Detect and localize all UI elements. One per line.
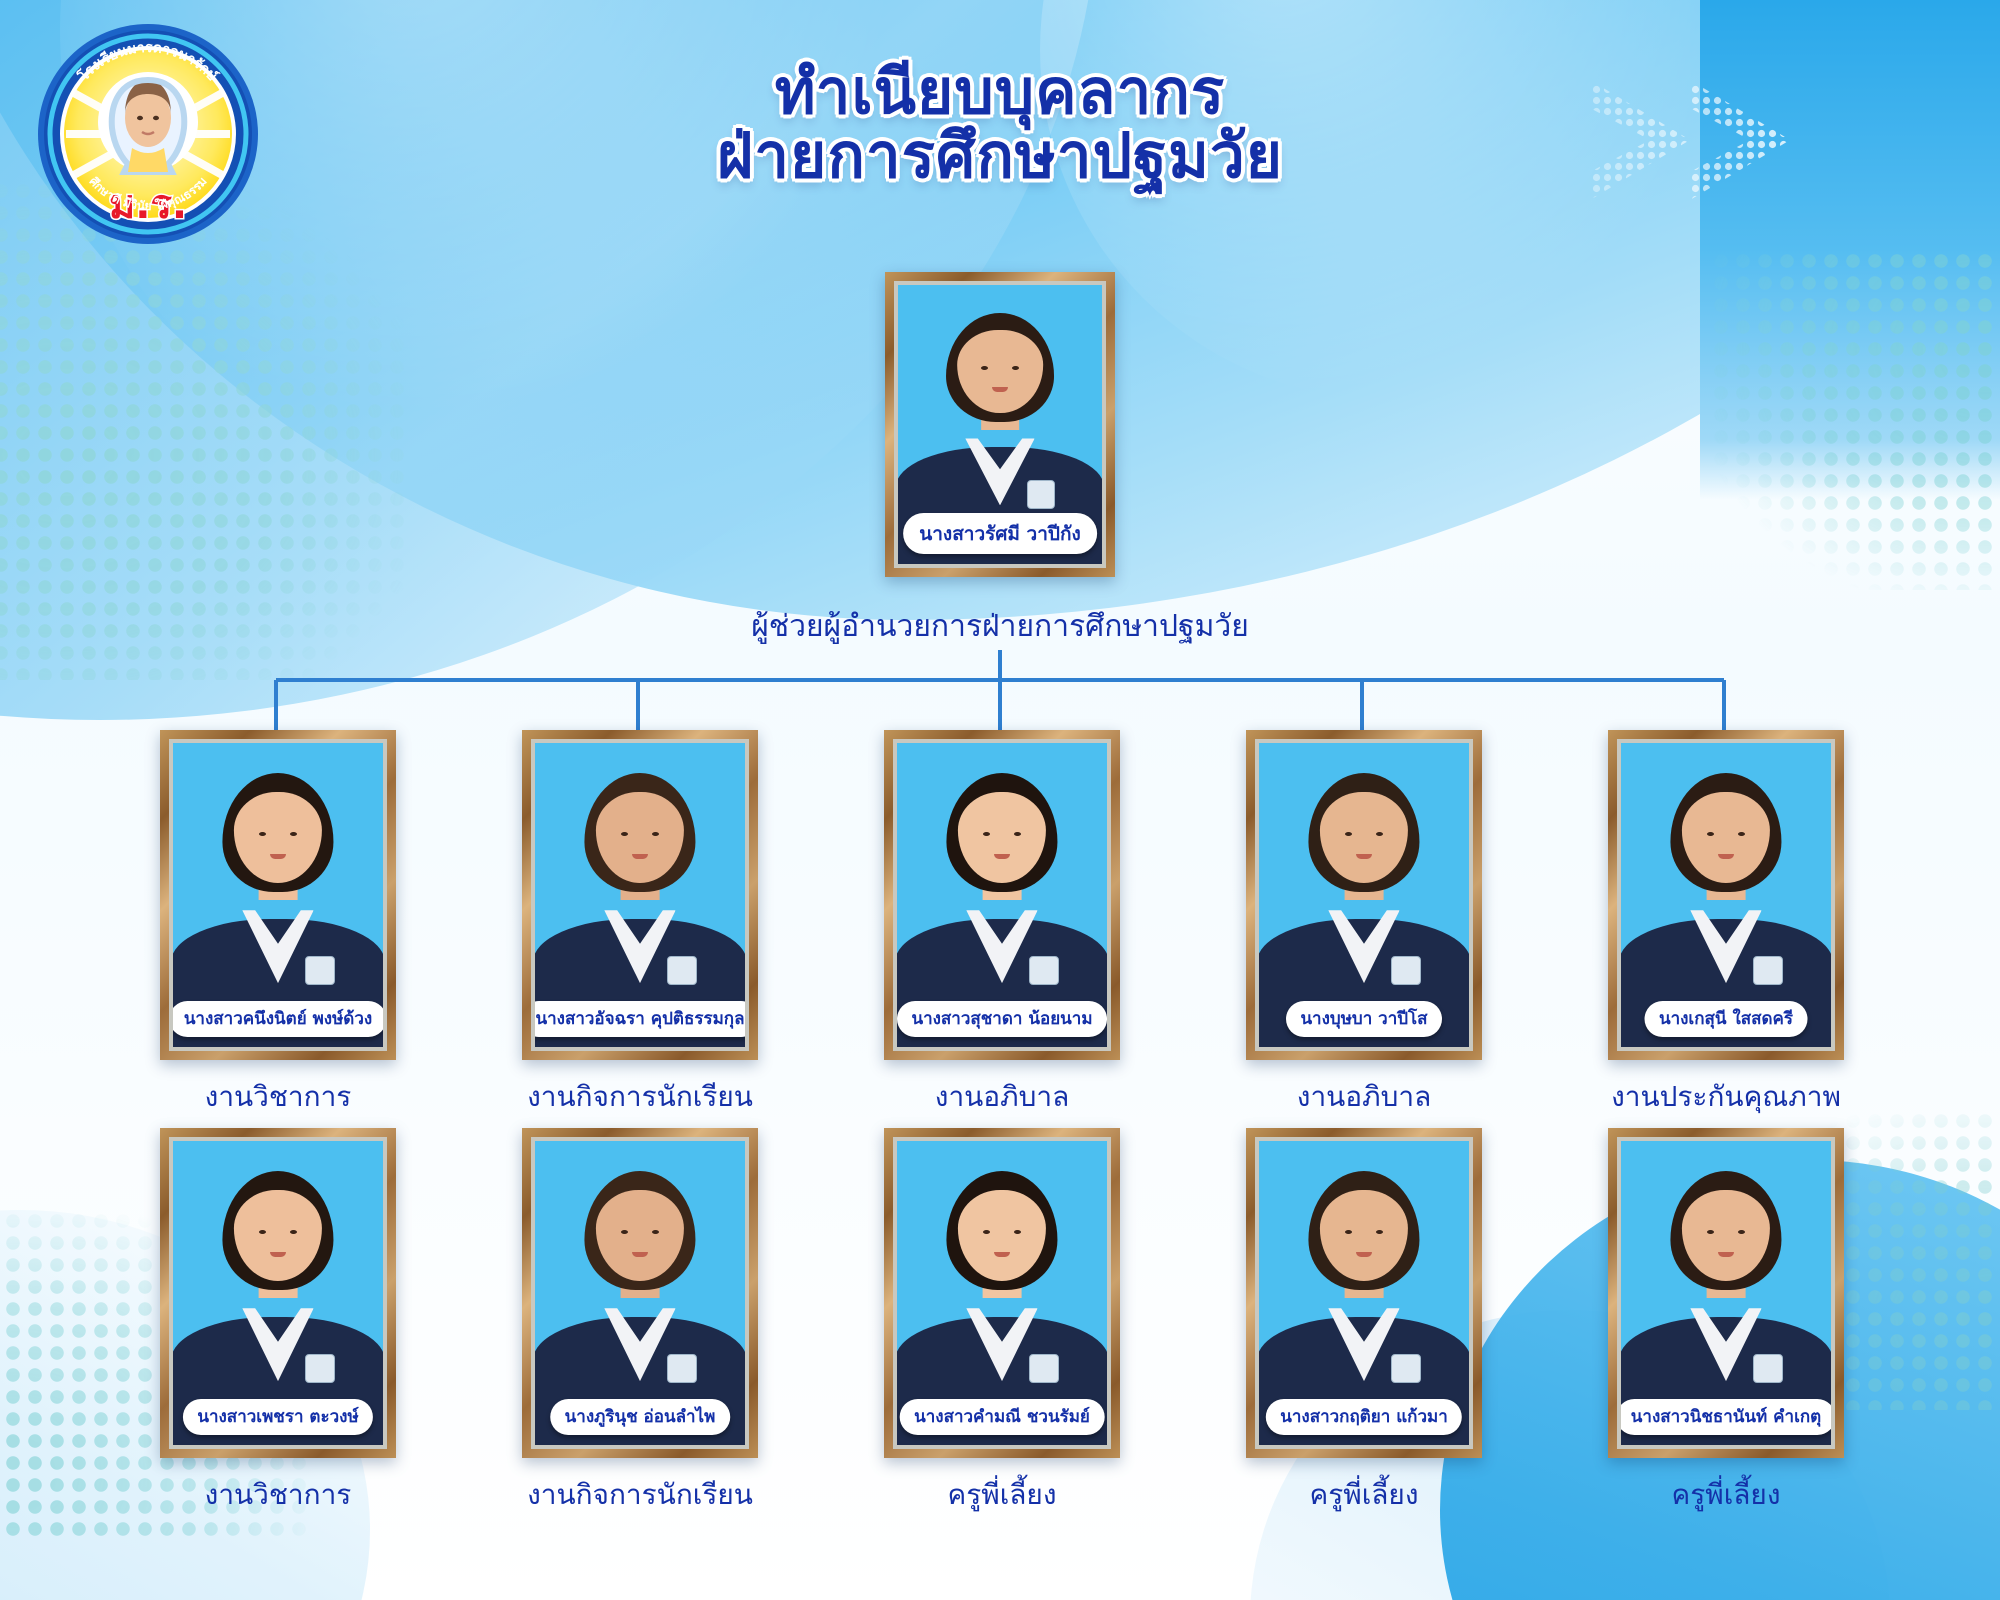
school-logo: ม.ร. โรงเรียนมารดาวนารักษ์ ศึกษาดี มีวิน… xyxy=(36,22,260,246)
photo-frame: นางสาวกฤติยา แก้วมา xyxy=(1246,1128,1482,1458)
org-chart-node[interactable]: นางสาวนิชธานันท์ คำเกตุ xyxy=(1608,1128,1844,1458)
photo-frame: นางสาวคนึงนิตย์ พงษ์ด้วง xyxy=(160,730,396,1060)
photo-frame-inner: นางบุษบา วาปีโส xyxy=(1255,739,1473,1051)
photo-frame: นางสาวอัจฉรา คุปติธรรมกุล xyxy=(522,730,758,1060)
photo-frame-inner: นางเกสุนี ใสสดครี xyxy=(1617,739,1835,1051)
org-chart-node[interactable]: นางสาวคำมณี ชวนรัมย์ xyxy=(884,1128,1120,1458)
person-role-label: ครูพี่เลี้ยง xyxy=(1309,1473,1418,1517)
photo-frame-inner: นางสาวคนึงนิตย์ พงษ์ด้วง xyxy=(169,739,387,1051)
org-chart-node[interactable]: นางเกสุนี ใสสดครี xyxy=(1608,730,1844,1060)
person-name-tag: นางสาวคำมณี ชวนรัมย์ xyxy=(900,1399,1105,1436)
person-name-tag: นางเกสุนี ใสสดครี xyxy=(1645,1001,1808,1038)
org-chart-node[interactable]: นางสาวเพชรา ตะวงษ์ xyxy=(160,1128,396,1458)
photo-frame-inner: นางภูรินุช อ่อนลำไพ xyxy=(531,1137,749,1449)
person-name-tag: นางสาวนิชธานันท์ คำเกตุ xyxy=(1617,1399,1835,1436)
org-chart-node[interactable]: นางสาวสุชาดา น้อยนาม xyxy=(884,730,1120,1060)
person-role-label: ครูพี่เลี้ยง xyxy=(1671,1473,1780,1517)
photo-frame-inner: นางสาวเพชรา ตะวงษ์ xyxy=(169,1137,387,1449)
person-role-label: งานอภิบาล xyxy=(935,1075,1069,1119)
photo-frame-inner: นางสาวกฤติยา แก้วมา xyxy=(1255,1137,1473,1449)
person-name-tag: นางสาวคนึงนิตย์ พงษ์ด้วง xyxy=(169,1001,386,1038)
person-role-label: งานอภิบาล xyxy=(1297,1075,1431,1119)
photo-frame: นางสาวรัศมี วาปีกัง xyxy=(885,272,1115,577)
person-role-label: งานวิชาการ xyxy=(205,1473,352,1517)
photo-frame: นางสาวคำมณี ชวนรัมย์ xyxy=(884,1128,1120,1458)
org-chart-node[interactable]: นางบุษบา วาปีโส xyxy=(1246,730,1482,1060)
person-name-tag: นางสาวเพชรา ตะวงษ์ xyxy=(183,1399,373,1436)
photo-frame: นางเกสุนี ใสสดครี xyxy=(1608,730,1844,1060)
person-name-tag: นางสาวรัศมี วาปีกัง xyxy=(903,513,1097,554)
org-chart-node[interactable]: นางสาวอัจฉรา คุปติธรรมกุล xyxy=(522,730,758,1060)
person-name-tag: นางภูรินุช อ่อนลำไพ xyxy=(550,1399,730,1436)
person-role-label: งานวิชาการ xyxy=(205,1075,352,1119)
photo-frame: นางสาวนิชธานันท์ คำเกตุ xyxy=(1608,1128,1844,1458)
person-role-label: งานกิจการนักเรียน xyxy=(527,1075,753,1119)
photo-frame: นางบุษบา วาปีโส xyxy=(1246,730,1482,1060)
photo-frame: นางสาวเพชรา ตะวงษ์ xyxy=(160,1128,396,1458)
person-name-tag: นางบุษบา วาปีโส xyxy=(1286,1001,1442,1038)
person-role-label: ครูพี่เลี้ยง xyxy=(947,1473,1056,1517)
photo-frame-inner: นางสาวอัจฉรา คุปติธรรมกุล xyxy=(531,739,749,1051)
school-crest-icon: ม.ร. โรงเรียนมารดาวนารักษ์ ศึกษาดี มีวิน… xyxy=(36,22,260,246)
photo-frame-inner: นางสาวคำมณี ชวนรัมย์ xyxy=(893,1137,1111,1449)
photo-frame: นางสาวสุชาดา น้อยนาม xyxy=(884,730,1120,1060)
person-role-label: งานประกันคุณภาพ xyxy=(1611,1075,1841,1119)
org-chart: นางสาวรัศมี วาปีกังผู้ช่วยผู้อำนวยการฝ่า… xyxy=(0,0,2000,1600)
photo-frame: นางภูรินุช อ่อนลำไพ xyxy=(522,1128,758,1458)
person-name-tag: นางสาวอัจฉรา คุปติธรรมกุล xyxy=(531,1001,749,1038)
org-chart-node[interactable]: นางภูรินุช อ่อนลำไพ xyxy=(522,1128,758,1458)
person-role-label: ผู้ช่วยผู้อำนวยการฝ่ายการศึกษาปฐมวัย xyxy=(751,603,1249,650)
org-chart-node[interactable]: นางสาวรัศมี วาปีกัง xyxy=(885,272,1115,577)
person-role-label: งานกิจการนักเรียน xyxy=(527,1473,753,1517)
photo-frame-inner: นางสาวนิชธานันท์ คำเกตุ xyxy=(1617,1137,1835,1449)
person-name-tag: นางสาวสุชาดา น้อยนาม xyxy=(897,1001,1107,1038)
org-chart-node[interactable]: นางสาวกฤติยา แก้วมา xyxy=(1246,1128,1482,1458)
person-name-tag: นางสาวกฤติยา แก้วมา xyxy=(1266,1399,1462,1436)
photo-frame-inner: นางสาวรัศมี วาปีกัง xyxy=(894,281,1106,568)
photo-frame-inner: นางสาวสุชาดา น้อยนาม xyxy=(893,739,1111,1051)
org-chart-node[interactable]: นางสาวคนึงนิตย์ พงษ์ด้วง xyxy=(160,730,396,1060)
